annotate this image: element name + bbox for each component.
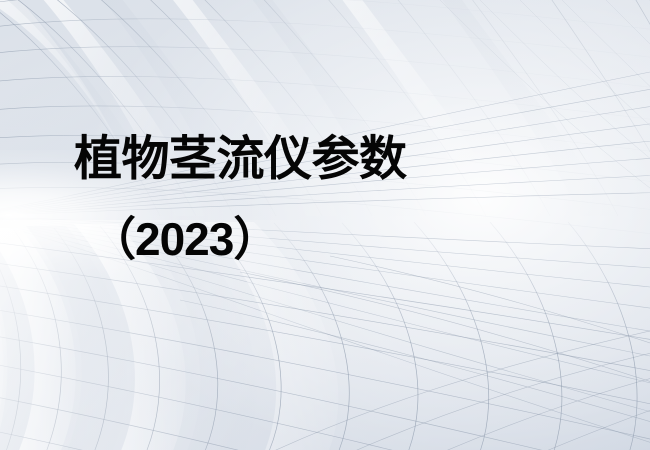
background-bottom-left-wash: [0, 220, 300, 450]
background-graphic: [0, 0, 650, 450]
title-slide: 植物茎流仪参数 （2023）: [0, 0, 650, 450]
